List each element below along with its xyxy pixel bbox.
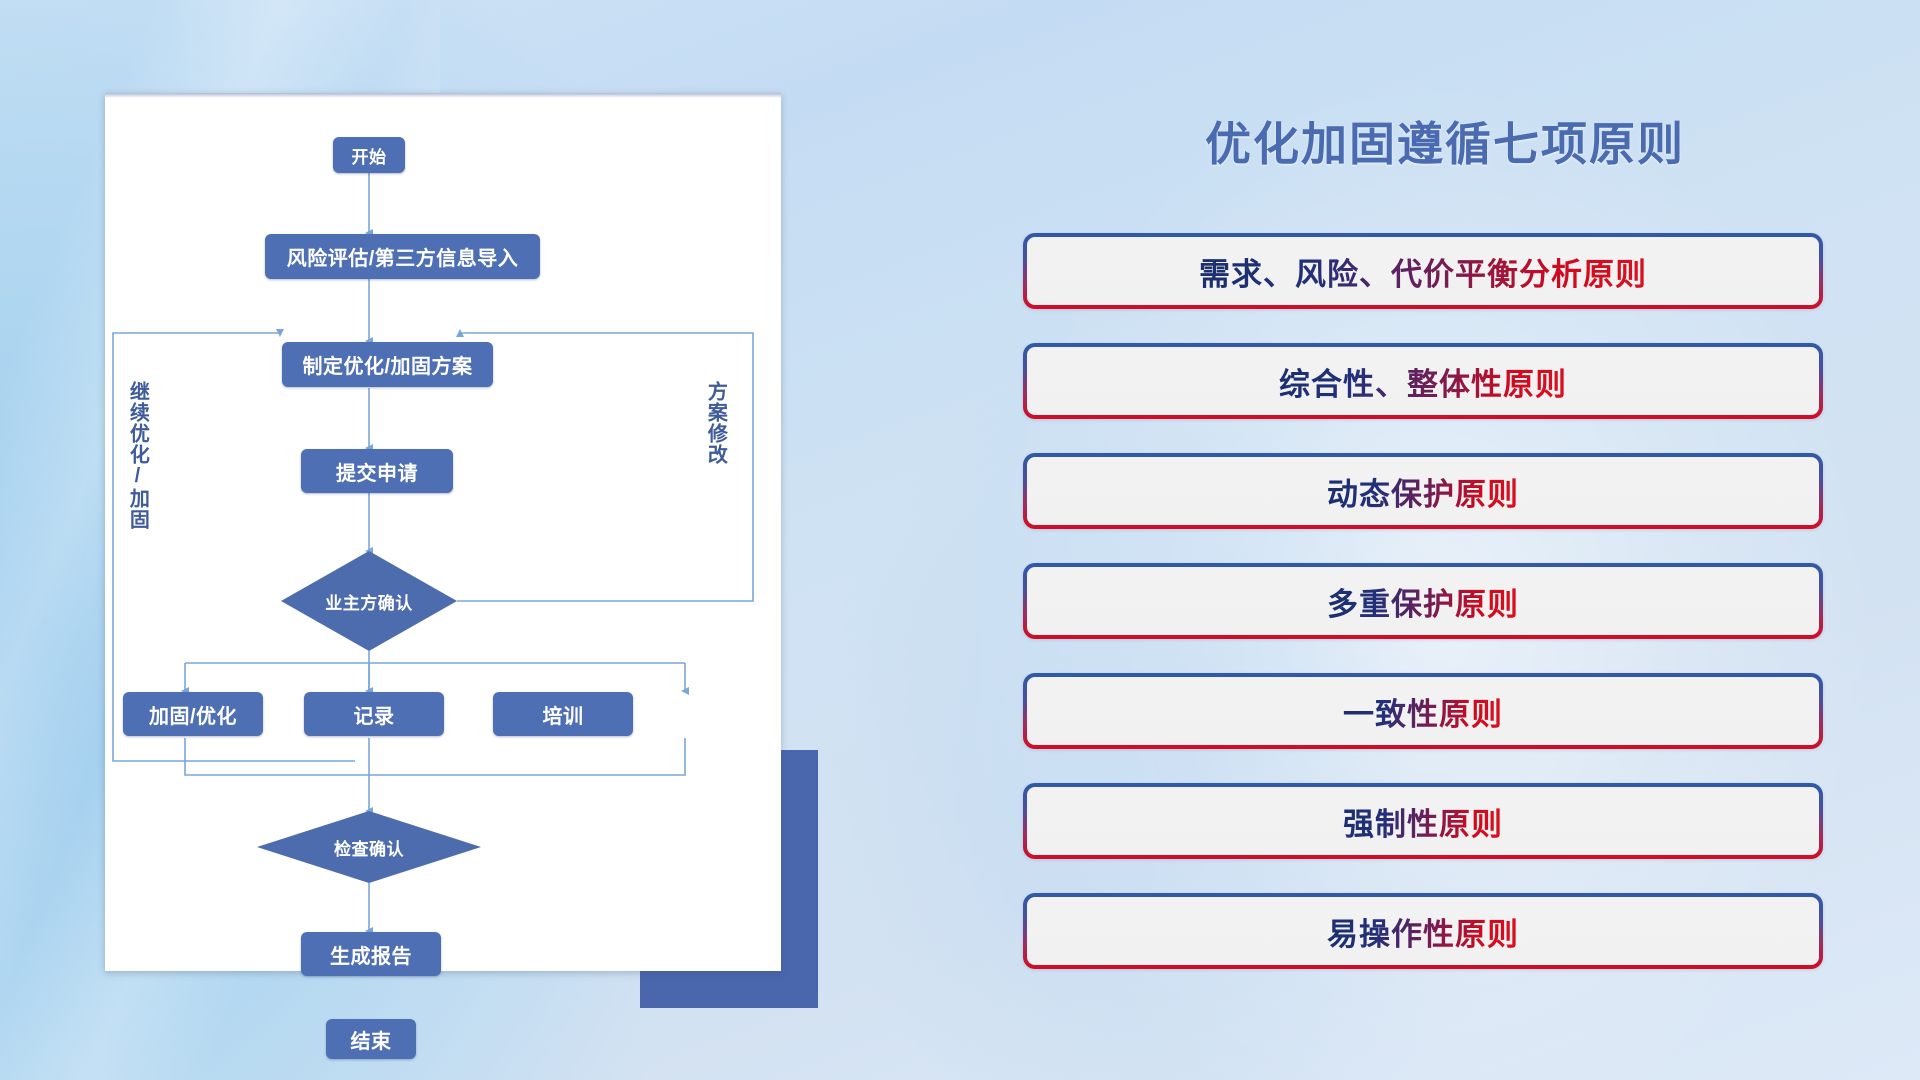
flow-node-report[interactable]: 生成报告 [301,932,441,976]
principle-card-2[interactable]: 综合性、整体性原则 [1023,343,1823,419]
flow-node-harden[interactable]: 加固/优化 [123,692,263,736]
edge-label-continue-optimize: 继续优化/加固 [127,381,147,530]
edge-label-plan-revision: 方案修改 [705,381,725,465]
principles-list: 需求、风险、代价平衡分析原则 综合性、整体性原则 动态保护原则 多重保护原则 一… [1023,233,1823,1003]
principle-label: 综合性、整体性原则 [1279,359,1567,404]
flowchart-card: 开始 风险评估/第三方信息导入 制定优化/加固方案 提交申请 业主方确认 加固/… [105,93,781,971]
principles-panel: 优化加固遵循七项原则 需求、风险、代价平衡分析原则 综合性、整体性原则 动态保护… [1010,0,1920,1080]
principle-card-5[interactable]: 一致性原则 [1023,673,1823,749]
principle-label: 多重保护原则 [1327,579,1519,624]
flow-node-owner-confirm[interactable]: 业主方确认 [281,551,457,651]
flow-node-owner-confirm-label: 业主方确认 [325,589,413,614]
flow-node-end-label: 结束 [351,1025,392,1054]
flow-node-start-label: 开始 [352,143,387,168]
principle-label: 需求、风险、代价平衡分析原则 [1199,249,1647,294]
flow-node-assess-label: 风险评估/第三方信息导入 [287,242,519,271]
principle-card-7[interactable]: 易操作性原则 [1023,893,1823,969]
principle-card-4[interactable]: 多重保护原则 [1023,563,1823,639]
flow-node-check-confirm[interactable]: 检查确认 [257,811,481,883]
flow-node-check-confirm-label: 检查确认 [334,835,404,860]
panel-title: 优化加固遵循七项原则 [1010,108,1880,174]
principle-card-1[interactable]: 需求、风险、代价平衡分析原则 [1023,233,1823,309]
slide-root: 开始 风险评估/第三方信息导入 制定优化/加固方案 提交申请 业主方确认 加固/… [0,0,1920,1080]
flow-node-harden-label: 加固/优化 [149,700,237,729]
principle-label: 易操作性原则 [1327,909,1519,954]
flow-node-record[interactable]: 记录 [304,692,444,736]
principle-label: 强制性原则 [1343,799,1503,844]
principle-card-6[interactable]: 强制性原则 [1023,783,1823,859]
flow-node-plan[interactable]: 制定优化/加固方案 [282,342,493,387]
principle-label: 一致性原则 [1343,689,1503,734]
flow-node-plan-label: 制定优化/加固方案 [302,350,472,379]
flow-node-start[interactable]: 开始 [333,137,405,173]
principle-card-3[interactable]: 动态保护原则 [1023,453,1823,529]
principle-label: 动态保护原则 [1327,469,1519,514]
flow-node-train-label: 培训 [543,700,584,729]
flow-node-record-label: 记录 [354,700,395,729]
flow-node-assess[interactable]: 风险评估/第三方信息导入 [265,234,540,279]
flow-node-report-label: 生成报告 [330,940,412,969]
flow-node-submit[interactable]: 提交申请 [301,449,453,493]
flow-node-submit-label: 提交申请 [336,457,418,486]
flow-node-end[interactable]: 结束 [326,1019,416,1059]
flow-node-train[interactable]: 培训 [493,692,633,736]
